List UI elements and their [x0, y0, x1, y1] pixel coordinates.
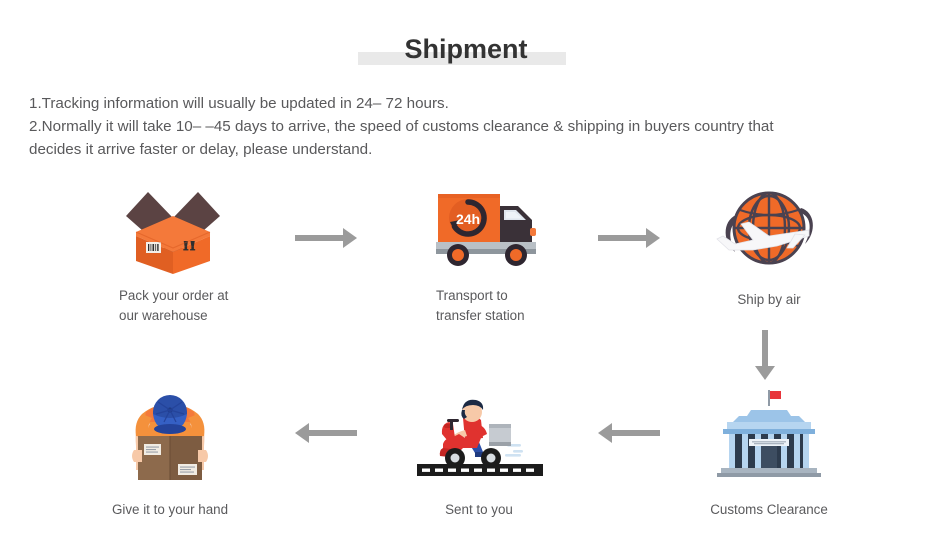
step-give-to-hand: Give it to your hand — [94, 388, 246, 528]
step-transport-caption: Transport to transfer station — [436, 286, 586, 326]
delivery-truck-24h-icon: 24h — [430, 184, 550, 276]
step-sent-to-you: Sent to you — [403, 388, 553, 528]
intro-line-1: 1.Tracking information will usually be u… — [29, 92, 889, 115]
step-sent-to-you-caption: Sent to you — [403, 500, 555, 520]
step-ship-by-air-caption: Ship by air — [693, 290, 845, 310]
open-cardboard-box-icon — [118, 178, 228, 278]
arrow-transport-to-air — [598, 228, 660, 248]
step-customs-clearance: Customs Clearance — [693, 388, 843, 528]
globe-airplane-icon — [709, 178, 829, 278]
intro-line-3: decides it arrive faster or delay, pleas… — [29, 138, 889, 161]
page-title: Shipment — [398, 34, 533, 65]
shipment-infographic: Shipment 1.Tracking information will usu… — [0, 0, 932, 540]
courier-holding-package-icon — [120, 388, 220, 483]
intro-paragraph: 1.Tracking information will usually be u… — [29, 92, 889, 161]
page-title-block: Shipment — [0, 34, 932, 65]
step-transport: 24h Transport to transfer station — [418, 178, 568, 328]
arrow-pack-to-transport — [295, 228, 357, 248]
step-ship-by-air: Ship by air — [693, 178, 843, 318]
arrow-customs-to-sent — [598, 423, 660, 443]
scooter-courier-icon — [415, 388, 545, 483]
step-pack-order: Pack your order at our warehouse — [100, 178, 245, 328]
step-give-to-hand-caption: Give it to your hand — [94, 500, 246, 520]
step-pack-order-caption: Pack your order at our warehouse — [119, 286, 269, 326]
arrow-sent-to-hand — [295, 423, 357, 443]
arrow-air-to-customs — [755, 330, 775, 380]
truck-24h-badge: 24h — [456, 211, 480, 227]
step-customs-clearance-caption: Customs Clearance — [693, 500, 845, 520]
intro-line-2: 2.Normally it will take 10– –45 days to … — [29, 115, 889, 138]
government-building-icon — [713, 388, 825, 478]
